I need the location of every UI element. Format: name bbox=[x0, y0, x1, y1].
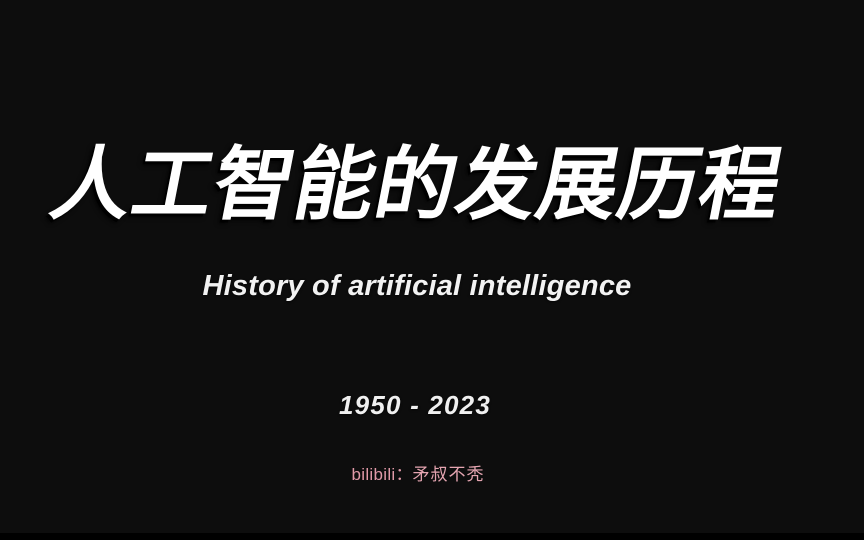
title-slide: 人工智能的发展历程 History of artificial intellig… bbox=[0, 0, 864, 540]
credit-handle: 矛叔不秃 bbox=[412, 465, 484, 485]
credit-separator: ： bbox=[395, 465, 412, 484]
credit-line: bilibili：矛叔不秃 bbox=[0, 464, 864, 486]
credit-platform-label: bilibili bbox=[352, 465, 396, 484]
page-title: 人工智能的发展历程 bbox=[0, 140, 864, 230]
letterbox-band bbox=[0, 533, 864, 540]
subtitle: History of artificial intelligence bbox=[0, 270, 864, 303]
year-range: 1950 - 2023 bbox=[0, 390, 864, 421]
